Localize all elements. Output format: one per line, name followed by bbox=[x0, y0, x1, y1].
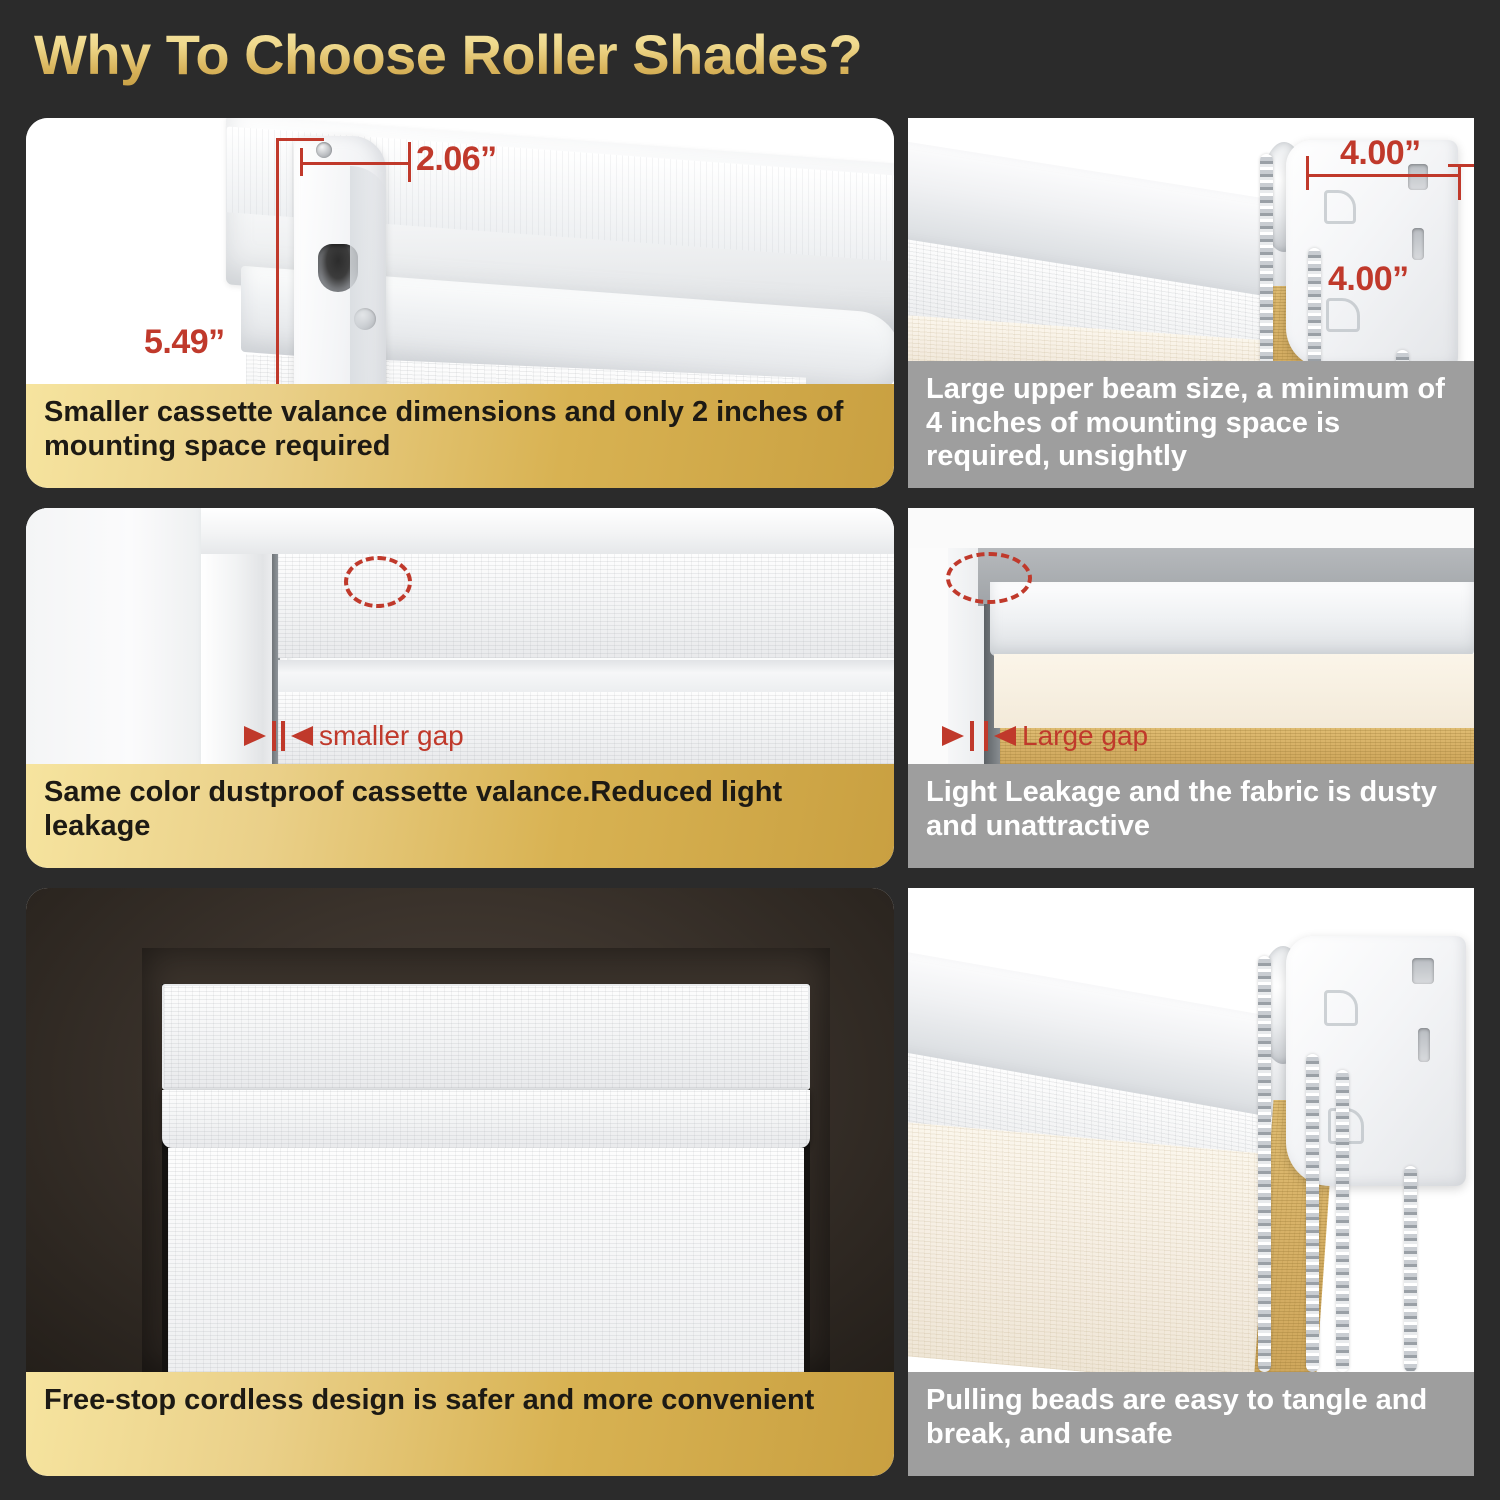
bracket-slot bbox=[1412, 958, 1434, 984]
highlight-circle bbox=[946, 552, 1032, 604]
comparison-grid: 2.06” 5.49” Smaller cassette valance dim… bbox=[0, 0, 1500, 1500]
arrow-right-icon bbox=[244, 726, 266, 746]
panel-middle-right: Large gap Light Leakage and the fabric i… bbox=[908, 508, 1474, 868]
roller-tube bbox=[990, 582, 1474, 656]
highlight-circle bbox=[344, 556, 412, 608]
caption-top-left: Smaller cassette valance dimensions and … bbox=[26, 384, 894, 488]
panel-bottom-left: Free-stop cordless design is safer and m… bbox=[26, 888, 894, 1476]
roller-fabric-cream bbox=[908, 1121, 1286, 1372]
caption-bottom-left: Free-stop cordless design is safer and m… bbox=[26, 1372, 894, 1476]
bracket-emboss bbox=[1324, 190, 1356, 224]
panel-bottom-right: Pulling beads are easy to tangle and bre… bbox=[908, 888, 1474, 1476]
width-dimension-tick bbox=[408, 142, 411, 182]
shade-fabric bbox=[168, 1148, 804, 1372]
bracket-slot bbox=[1412, 228, 1424, 260]
beam-height-tick bbox=[1448, 164, 1474, 167]
cassette-valance bbox=[162, 984, 810, 1090]
cassette-valance-photo: 2.06” 5.49” bbox=[26, 118, 894, 384]
bead-chain-photo bbox=[908, 888, 1474, 1372]
arrow-right-icon bbox=[942, 726, 964, 746]
large-gap-label: Large gap bbox=[1022, 720, 1148, 752]
bead-chain bbox=[1306, 1054, 1319, 1372]
beam-width-tick bbox=[1306, 156, 1309, 190]
wall-surface bbox=[908, 508, 1474, 548]
window-frame-photo: smaller gap bbox=[26, 508, 894, 764]
cap-screw-icon bbox=[354, 308, 376, 330]
panel-top-left: 2.06” 5.49” Smaller cassette valance dim… bbox=[26, 118, 894, 488]
panel-top-right: 4.00” 4.00” Large upper beam size, a min… bbox=[908, 118, 1474, 488]
bracket-emboss bbox=[1326, 298, 1360, 332]
beam-width-dimension-line bbox=[1308, 174, 1460, 177]
caption-bottom-right: Pulling beads are easy to tangle and bre… bbox=[908, 1372, 1474, 1476]
width-dimension-tick bbox=[300, 148, 303, 176]
width-dimension-label: 2.06” bbox=[416, 140, 497, 179]
caption-top-right: Large upper beam size, a minimum of 4 in… bbox=[908, 361, 1474, 488]
roller-fabric-cream bbox=[994, 654, 1474, 728]
bead-chain bbox=[1258, 956, 1271, 1372]
bracket-slot bbox=[1418, 1028, 1430, 1062]
room-window-photo bbox=[26, 888, 894, 1372]
arrow-left-icon bbox=[291, 726, 313, 746]
panel-middle-left: smaller gap Same color dustproof cassett… bbox=[26, 508, 894, 868]
arrow-left-icon bbox=[994, 726, 1016, 746]
cassette-lip bbox=[278, 660, 894, 692]
large-gap-photo: Large gap bbox=[908, 508, 1474, 764]
smaller-gap-annotation: smaller gap bbox=[244, 720, 464, 752]
beam-height-label: 4.00” bbox=[1328, 260, 1409, 299]
bracket-emboss bbox=[1324, 990, 1358, 1026]
height-dimension-tick bbox=[276, 138, 324, 141]
bead-chain bbox=[1260, 154, 1273, 384]
caption-middle-right: Light Leakage and the fabric is dusty an… bbox=[908, 764, 1474, 868]
width-dimension-line bbox=[302, 162, 410, 165]
caption-middle-left: Same color dustproof cassette valance.Re… bbox=[26, 764, 894, 868]
cap-screw-icon bbox=[316, 142, 332, 158]
cassette-lip bbox=[162, 1090, 810, 1148]
gap-bars-icon bbox=[970, 721, 988, 751]
bead-chain bbox=[1336, 1070, 1349, 1372]
bead-chain bbox=[1404, 1166, 1417, 1372]
gap-bars-icon bbox=[272, 721, 285, 751]
smaller-gap-label: smaller gap bbox=[319, 720, 464, 752]
beam-width-label: 4.00” bbox=[1340, 134, 1421, 173]
height-dimension-label: 5.49” bbox=[144, 323, 225, 362]
wall-surface bbox=[26, 508, 201, 764]
window-frame-top bbox=[201, 508, 894, 554]
large-gap-annotation: Large gap bbox=[942, 720, 1148, 752]
beam-width-tick bbox=[1458, 164, 1461, 200]
cap-cord-hole bbox=[318, 244, 358, 292]
roller-beam-photo: 4.00” 4.00” bbox=[908, 118, 1474, 384]
